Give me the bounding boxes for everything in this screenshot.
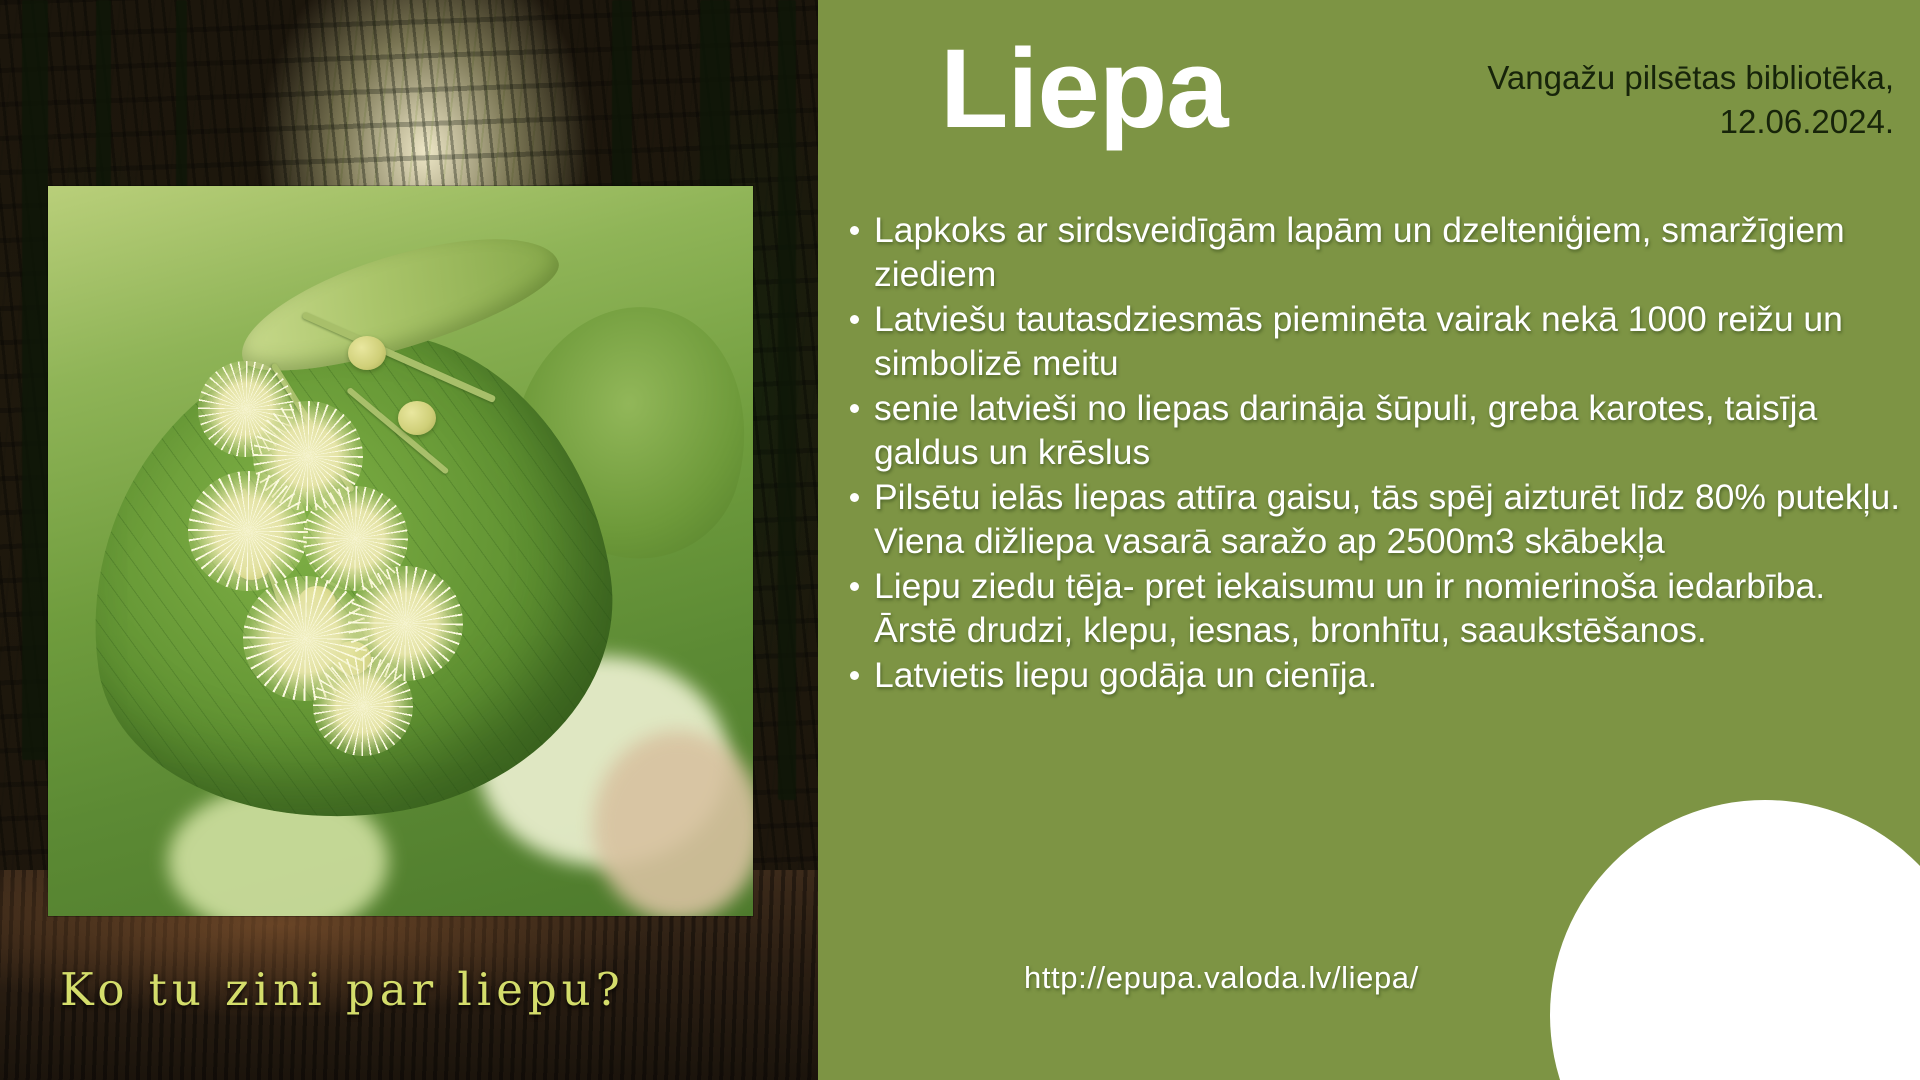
- linden-photo: [48, 186, 753, 916]
- fact-list: Lapkoks ar sirdsveidīgām lapām un dzelte…: [830, 208, 1906, 698]
- list-item: Pilsētu ielās liepas attīra gaisu, tās s…: [830, 475, 1906, 563]
- photo-bokeh: [593, 731, 753, 916]
- list-item: senie latvieši no liepas darināja šūpuli…: [830, 386, 1906, 474]
- corner-decoration: [1550, 800, 1920, 1080]
- photo-panel: Ko tu zini par liepu?: [0, 0, 818, 1080]
- list-item: Latvietis liepu godāja un cienīja.: [830, 653, 1906, 697]
- list-item: Liepu ziedu tēja- pret iekaisumu un ir n…: [830, 564, 1906, 652]
- flower-bud: [398, 401, 436, 435]
- presentation-date: 12.06.2024.: [1354, 100, 1894, 144]
- flower-bud: [348, 336, 386, 370]
- linden-blossom: [313, 656, 413, 756]
- photo-caption: Ko tu zini par liepu?: [60, 963, 625, 1016]
- list-item: Lapkoks ar sirdsveidīgām lapām un dzelte…: [830, 208, 1906, 296]
- library-name: Vangažu pilsētas bibliotēka,: [1354, 56, 1894, 100]
- tree-trunk-icon: [22, 0, 48, 760]
- library-dateline: Vangažu pilsētas bibliotēka, 12.06.2024.: [1354, 56, 1894, 143]
- presentation-slide: Ko tu zini par liepu? Liepa Vangažu pils…: [0, 0, 1920, 1080]
- tree-trunk-icon: [778, 0, 796, 800]
- content-panel: Liepa Vangažu pilsētas bibliotēka, 12.06…: [818, 0, 1920, 1080]
- source-url-link[interactable]: http://epupa.valoda.lv/liepa/: [1024, 960, 1419, 996]
- list-item: Latviešu tautasdziesmās pieminēta vairak…: [830, 297, 1906, 385]
- page-title: Liepa: [940, 30, 1228, 148]
- linden-blossom: [188, 471, 308, 591]
